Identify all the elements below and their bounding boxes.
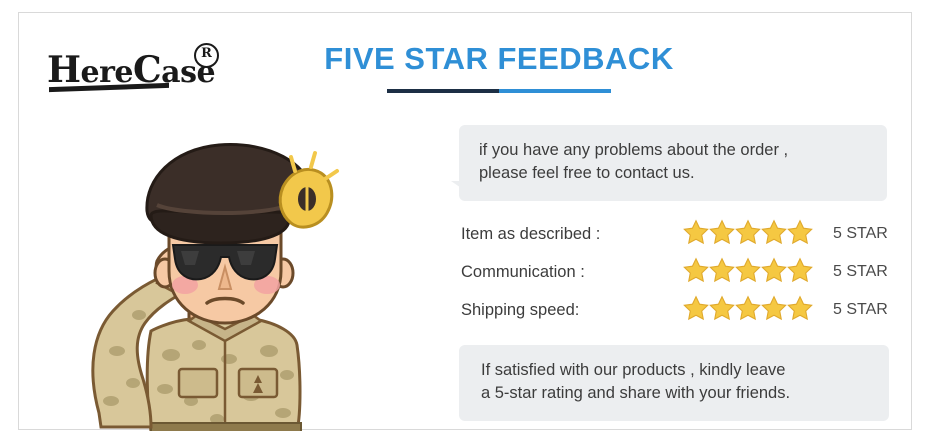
mascot-svg — [39, 83, 409, 431]
rating-label: Shipping speed: — [461, 301, 579, 320]
star-icon — [761, 257, 787, 283]
rating-row: Communication : 5 STAR — [461, 255, 891, 293]
star-icon — [735, 219, 761, 245]
rating-stars — [683, 255, 815, 289]
rating-list: Item as described : 5 STAR Communication… — [461, 217, 891, 331]
star-icon — [683, 219, 709, 245]
satisfaction-note: If satisfied with our products , kindly … — [459, 345, 889, 421]
satisfaction-note-line-1: If satisfied with our products , kindly … — [481, 359, 875, 382]
support-message-bubble: if you have any problems about the order… — [459, 125, 887, 201]
star-icon — [709, 257, 735, 283]
support-message-line-1: if you have any problems about the order… — [479, 139, 869, 162]
rating-row: Shipping speed: 5 STAR — [461, 293, 891, 331]
support-message-line-2: please feel free to contact us. — [479, 162, 869, 185]
star-icon — [761, 219, 787, 245]
star-icon — [761, 295, 787, 321]
title-divider — [387, 89, 611, 93]
page-title-text: FIVE STAR FEEDBACK — [289, 41, 709, 77]
star-icon — [787, 257, 813, 283]
star-icon — [735, 295, 761, 321]
rating-value: 5 STAR — [833, 301, 888, 319]
satisfaction-note-line-2: a 5-star rating and share with your frie… — [481, 382, 875, 405]
rating-label: Communication : — [461, 263, 585, 282]
star-icon — [683, 295, 709, 321]
rating-value: 5 STAR — [833, 263, 888, 281]
rating-value: 5 STAR — [833, 225, 888, 243]
star-icon — [709, 219, 735, 245]
feedback-banner: HereCase R FIVE STAR FEEDBACK — [0, 0, 930, 442]
rating-label: Item as described : — [461, 225, 600, 244]
rating-stars — [683, 293, 815, 327]
registered-trademark-icon: R — [194, 43, 219, 68]
star-icon — [787, 295, 813, 321]
star-icon — [709, 295, 735, 321]
star-icon — [683, 257, 709, 283]
title-divider-blue — [499, 89, 611, 93]
star-icon — [787, 219, 813, 245]
rating-stars — [683, 217, 815, 251]
rating-row: Item as described : 5 STAR — [461, 217, 891, 255]
banner-frame: HereCase R FIVE STAR FEEDBACK — [18, 12, 912, 430]
star-icon — [735, 257, 761, 283]
mascot-illustration — [39, 83, 409, 431]
